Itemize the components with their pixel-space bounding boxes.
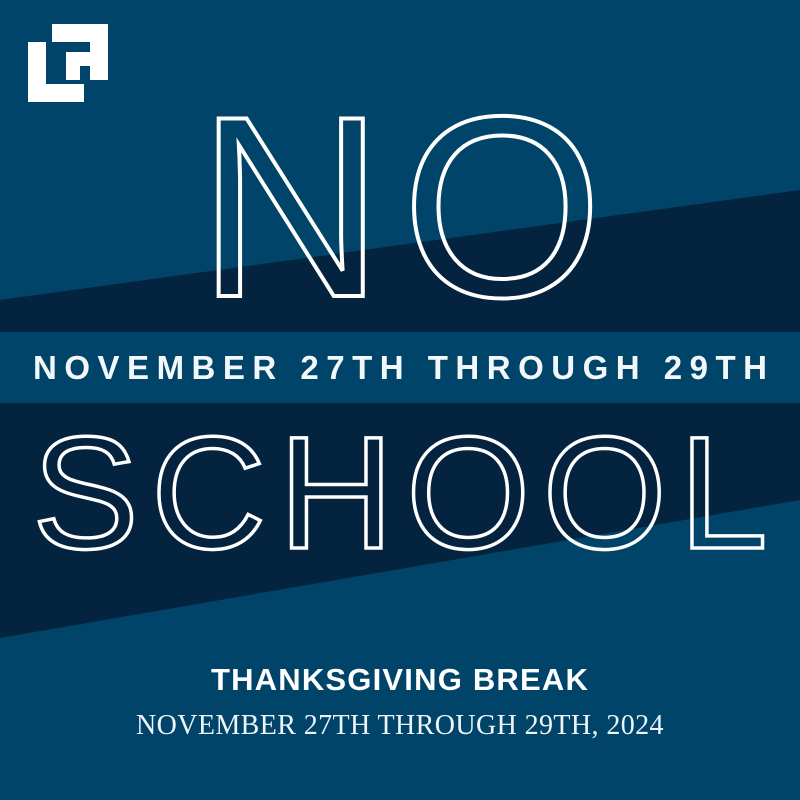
footer-subtitle: NOVEMBER 27TH THROUGH 29TH, 2024 bbox=[0, 709, 800, 743]
flyer-canvas: NO NOVEMBER 27TH THROUGH 29TH SCHOOL THA… bbox=[0, 0, 800, 800]
date-banner-text: NOVEMBER 27TH THROUGH 29TH bbox=[26, 349, 775, 387]
footer-block: THANKSGIVING BREAK NOVEMBER 27TH THROUGH… bbox=[0, 660, 800, 742]
date-banner: NOVEMBER 27TH THROUGH 29TH bbox=[0, 332, 800, 403]
headline-school: SCHOOL bbox=[0, 413, 800, 573]
headline-no: NO bbox=[0, 78, 800, 336]
footer-title: THANKSGIVING BREAK bbox=[0, 660, 800, 700]
